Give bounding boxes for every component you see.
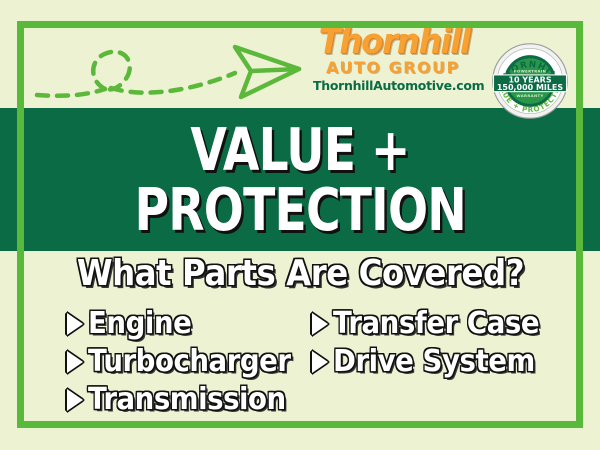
- svg-text:POWERTRAIN: POWERTRAIN: [514, 69, 546, 74]
- coverage-left-column: Engine Turbocharger Transmission: [67, 305, 308, 419]
- coverage-item-label: Transmission: [88, 383, 286, 417]
- svg-text:150,000 MILES: 150,000 MILES: [497, 83, 563, 92]
- coverage-lists: Engine Turbocharger Transmission Transfe…: [17, 305, 583, 420]
- triangle-bullet-icon: [67, 313, 83, 335]
- subhead: What Parts Are Covered?: [0, 252, 600, 296]
- list-item: Engine: [67, 305, 308, 343]
- triangle-bullet-icon: [67, 389, 83, 411]
- logo-brand-name: Thornhill: [319, 25, 468, 59]
- coverage-item-label: Drive System: [333, 345, 535, 379]
- triangle-bullet-icon: [312, 313, 328, 335]
- triangle-bullet-icon: [67, 351, 83, 373]
- dashed-flight-path-arrow-icon: [27, 25, 307, 105]
- coverage-right-column: Transfer Case Drive System: [312, 305, 557, 381]
- svg-text:WARRANTY: WARRANTY: [516, 93, 543, 98]
- poster-header: Thornhill AUTO GROUP ThornhillAutomotive…: [17, 21, 583, 108]
- promo-poster: Thornhill AUTO GROUP ThornhillAutomotive…: [0, 0, 600, 450]
- subhead-question: What Parts Are Covered?: [76, 252, 523, 296]
- list-item: Turbocharger: [67, 343, 308, 381]
- coverage-item-label: Turbocharger: [88, 345, 291, 379]
- coverage-item-label: Transfer Case: [333, 307, 539, 341]
- coverage-item-label: Engine: [88, 307, 191, 341]
- headline-line-1: VALUE +: [190, 120, 409, 180]
- list-item: Drive System: [312, 343, 557, 381]
- logo-website: ThornhillAutomotive.com: [313, 78, 473, 93]
- thornhill-auto-group-logo: Thornhill AUTO GROUP ThornhillAutomotive…: [313, 25, 473, 105]
- headline: VALUE + PROTECTION: [0, 108, 600, 251]
- triangle-bullet-icon: [312, 351, 328, 373]
- headline-line-2: PROTECTION: [134, 180, 466, 240]
- list-item: Transmission: [67, 381, 308, 419]
- list-item: Transfer Case: [312, 305, 557, 343]
